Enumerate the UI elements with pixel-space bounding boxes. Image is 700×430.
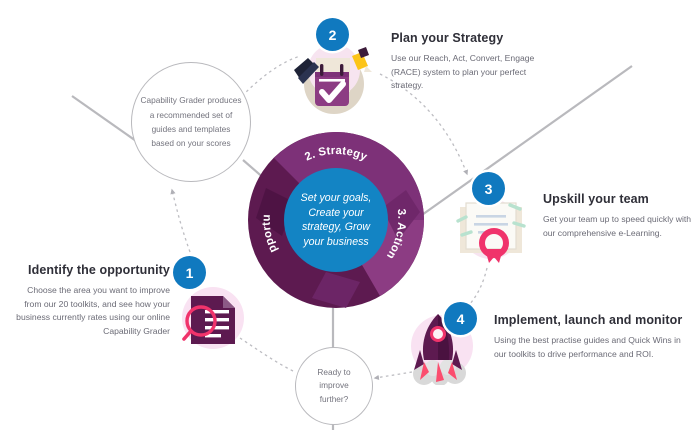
flow-arrow-1-to-capability <box>172 190 190 252</box>
bubble-capability-grader: Capability Grader produces a recommended… <box>131 62 251 182</box>
step-1-heading: Identify the opportunity <box>12 263 170 279</box>
step-badge-2[interactable]: 2 <box>316 18 349 51</box>
step-2-heading: Plan your Strategy <box>391 31 551 47</box>
ring-label-opportunity: 1. Opportunity <box>248 132 280 254</box>
ring-label-strategy: 2. Strategy <box>303 145 369 164</box>
bubble-capability-grader-text: Capability Grader produces a recommended… <box>132 93 250 150</box>
infographic-canvas: Capability Grader produces a recommended… <box>0 0 700 430</box>
calendar-checkmark-icon <box>292 40 372 118</box>
ring-chevron-divider-bottom <box>312 272 360 308</box>
step-badge-2-number: 2 <box>329 27 337 43</box>
step-2-text: Plan your Strategy Use our Reach, Act, C… <box>391 31 551 93</box>
step-1-illustration <box>175 280 247 352</box>
step-4-body: Using the best practise guides and Quick… <box>494 334 694 362</box>
step-badge-4[interactable]: 4 <box>444 302 477 335</box>
step-badge-1[interactable]: 1 <box>173 256 206 289</box>
step-2-body: Use our Reach, Act, Convert, Engage (RAC… <box>391 52 551 94</box>
step-3-text: Upskill your team Get your team up to sp… <box>543 192 695 240</box>
step-2-illustration <box>292 40 372 118</box>
step-4-heading: Implement, launch and monitor <box>494 313 694 329</box>
step-1-text: Identify the opportunity Choose the area… <box>12 263 170 339</box>
step-4-text: Implement, launch and monitor Using the … <box>494 313 694 361</box>
step-3-heading: Upskill your team <box>543 192 695 208</box>
step-1-body: Choose the area you want to improve from… <box>12 284 170 340</box>
bubble-ready-to-improve-text: Ready to improve further? <box>296 366 372 406</box>
step-badge-3-number: 3 <box>485 181 493 197</box>
document-magnifier-icon <box>175 280 247 352</box>
bubble-ready-to-improve: Ready to improve further? <box>295 347 373 425</box>
step-badge-4-number: 4 <box>457 311 465 327</box>
flow-arrow-ready-to-1 <box>240 338 293 371</box>
central-cycle-diagram: 2. Strategy 1. Opportunity 3. Action Set… <box>248 132 424 308</box>
central-core-circle: Set your goals, Create your strategy, Gr… <box>284 168 388 272</box>
step-3-body: Get your team up to speed quickly with o… <box>543 213 695 241</box>
step-badge-3[interactable]: 3 <box>472 172 505 205</box>
flow-arrow-3-to-4 <box>470 268 487 304</box>
step-badge-1-number: 1 <box>186 265 194 281</box>
central-core-text: Set your goals, Create your strategy, Gr… <box>284 191 388 249</box>
